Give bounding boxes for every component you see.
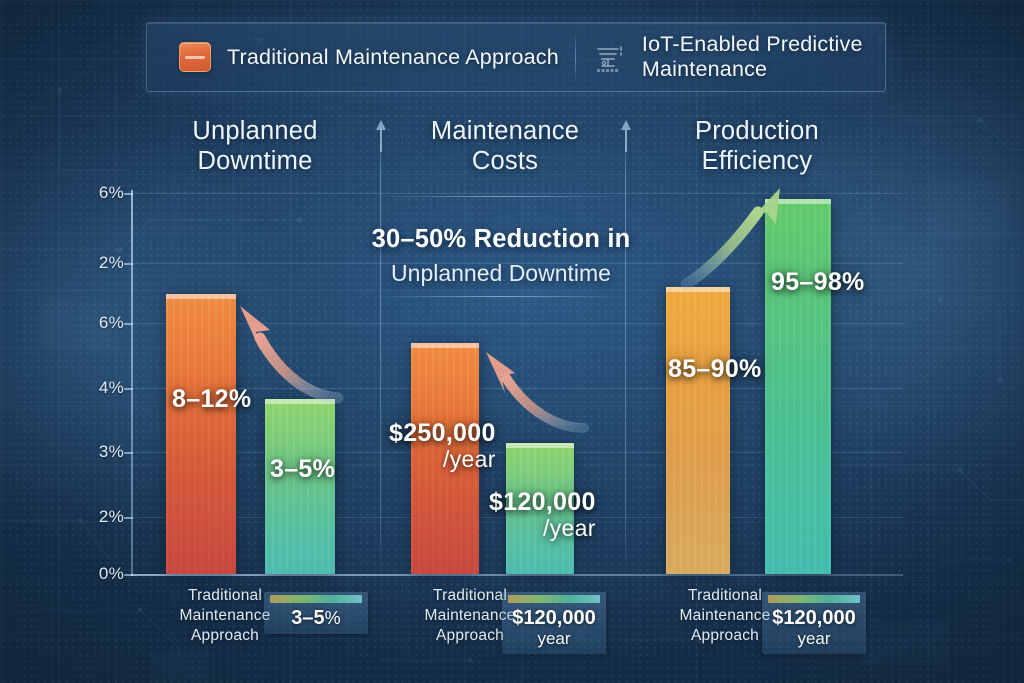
badge-value: $120,000 xyxy=(506,607,602,629)
y-tick-label: 6% xyxy=(72,183,124,203)
x-axis-badge-group-1[interactable]: 3–5% xyxy=(264,592,368,634)
group-title-line-2: Efficiency xyxy=(702,147,813,175)
x-axis-label-line-3: Approach xyxy=(691,627,759,644)
bar-value-amount: $250,000 xyxy=(389,419,496,447)
y-tick-label: 2% xyxy=(72,253,124,273)
y-tick-mark xyxy=(124,574,133,576)
group-divider xyxy=(625,120,626,575)
x-axis-label-line-2: Maintenance xyxy=(680,607,771,624)
x-axis-label-line-1: Traditional xyxy=(433,587,507,604)
divider-up-arrow-icon xyxy=(373,118,389,152)
callout-rule-top xyxy=(375,196,625,197)
group-title-maintenance-costs: Maintenance Costs xyxy=(390,117,620,177)
bar-value-unit: /year xyxy=(389,447,496,473)
bar-value-traditional-maintenance-costs: $250,000 /year xyxy=(389,419,496,473)
group-title-production-efficiency: Production Efficiency xyxy=(642,117,872,177)
y-tick-mark xyxy=(124,263,133,265)
y-tick-mark xyxy=(124,193,133,195)
group-title-line-1: Maintenance xyxy=(431,117,579,145)
bar-traditional-production-efficiency[interactable] xyxy=(666,287,730,574)
x-axis-badge-group-2[interactable]: $120,000 year xyxy=(502,592,606,654)
x-axis-badge-group-3[interactable]: $120,000 year xyxy=(762,592,866,654)
infographic-canvas: Traditional Maintenance Approach xyxy=(0,0,1024,683)
bar-value-predictive-unplanned-downtime: 3–5% xyxy=(270,455,335,483)
bar-traditional-unplanned-downtime[interactable] xyxy=(166,294,236,574)
group-divider xyxy=(380,120,381,575)
badge-gradient-swatch-icon xyxy=(270,595,362,603)
x-axis-label-line-2: Maintenance xyxy=(180,607,271,624)
badge-gradient-swatch-icon xyxy=(768,595,860,603)
badge-unit: year xyxy=(506,629,602,649)
y-tick-mark xyxy=(124,388,133,390)
y-tick-label: 2% xyxy=(72,507,124,527)
chart-area: 6% 2% 6% 4% 3% 2% 0% Unplanned Downtime … xyxy=(0,0,1024,683)
bar-value-predictive-maintenance-costs: $120,000 /year xyxy=(489,488,596,542)
group-title-line-1: Production xyxy=(695,117,819,145)
callout-headline: 30–50% Reduction in xyxy=(370,224,632,256)
y-tick-label: 3% xyxy=(72,442,124,462)
x-axis-label-line-3: Approach xyxy=(436,627,504,644)
badge-value: $120,000 xyxy=(766,607,862,629)
bar-value-amount: $120,000 xyxy=(489,488,596,516)
y-tick-label: 6% xyxy=(72,313,124,333)
bar-value-traditional-production-efficiency: 85–90% xyxy=(668,355,762,383)
group-title-line-2: Downtime xyxy=(198,147,313,175)
callout-subline: Unplanned Downtime xyxy=(370,259,632,288)
badge-unit: year xyxy=(766,629,862,649)
divider-up-arrow-icon xyxy=(618,118,634,152)
badge-value: 3–5% xyxy=(268,607,364,629)
bar-predictive-unplanned-downtime[interactable] xyxy=(265,399,335,574)
gridline xyxy=(131,193,903,194)
y-tick-label: 0% xyxy=(72,564,124,584)
callout-downtime-reduction: 30–50% Reduction in Unplanned Downtime xyxy=(370,224,632,288)
x-axis-label-line-3: Approach xyxy=(191,627,259,644)
group-title-line-2: Costs xyxy=(472,147,538,175)
y-tick-mark xyxy=(124,323,133,325)
bar-value-unit: /year xyxy=(489,516,596,542)
bar-value-traditional-unplanned-downtime: 8–12% xyxy=(172,385,251,413)
x-axis-line xyxy=(131,574,903,576)
x-axis-label-line-1: Traditional xyxy=(188,587,262,604)
y-tick-label: 4% xyxy=(72,378,124,398)
badge-gradient-swatch-icon xyxy=(508,595,600,603)
x-axis-label-line-1: Traditional xyxy=(688,587,762,604)
group-title-unplanned-downtime: Unplanned Downtime xyxy=(140,117,370,177)
callout-rule-bottom xyxy=(375,296,625,297)
group-title-line-1: Unplanned xyxy=(192,117,317,145)
y-tick-mark xyxy=(124,517,133,519)
bar-predictive-production-efficiency[interactable] xyxy=(765,199,831,574)
y-tick-mark xyxy=(124,452,133,454)
bar-value-predictive-production-efficiency: 95–98% xyxy=(771,268,865,296)
